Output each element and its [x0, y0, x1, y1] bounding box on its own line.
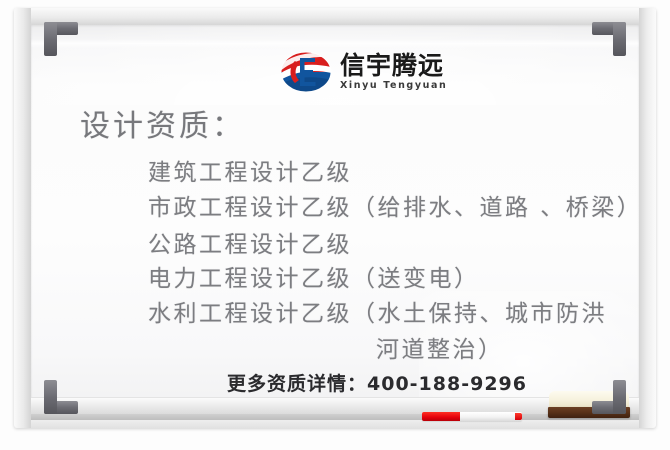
qualification-item: 建筑工程设计乙级 [148, 153, 352, 187]
frame-corner-top-right [592, 22, 626, 56]
whiteboard: 信宇腾远 Xinyu Tengyuan 设计资质： 建筑工程设计乙级 市政工程设… [14, 8, 656, 428]
qualification-item: 电力工程设计乙级（送变电） [148, 259, 480, 293]
corner-arm-vertical [613, 22, 626, 56]
qualification-item: 市政工程设计乙级（给排水、道路 、桥梁） [148, 188, 639, 222]
board-surface: 信宇腾远 Xinyu Tengyuan 设计资质： 建筑工程设计乙级 市政工程设… [31, 25, 639, 411]
frame-rail-top [14, 8, 656, 25]
qualification-item: 水利工程设计乙级（水土保持、城市防洪 [148, 294, 607, 328]
frame-corner-bottom-left [44, 380, 78, 414]
whiteboard-marker[interactable] [422, 412, 522, 421]
qualification-item-continuation: 河道整治） [376, 330, 504, 364]
contact-phone-line: 更多资质详情：400-188-9296 [227, 369, 527, 396]
marker-cap [422, 412, 460, 421]
frame-corner-top-left [44, 22, 78, 56]
whiteboard-scene: 信宇腾远 Xinyu Tengyuan 设计资质： 建筑工程设计乙级 市政工程设… [0, 0, 670, 450]
corner-arm-vertical [44, 380, 57, 414]
frame-rail-left [14, 8, 31, 428]
corner-arm-vertical [613, 380, 626, 414]
marker-tip [515, 413, 522, 420]
frame-rail-right [639, 8, 656, 428]
corner-arm-vertical [44, 22, 57, 56]
frame-corner-bottom-right [592, 380, 626, 414]
board-content: 设计资质： 建筑工程设计乙级 市政工程设计乙级（给排水、道路 、桥梁） 公路工程… [31, 25, 639, 411]
qualifications-heading: 设计资质： [80, 101, 245, 145]
qualification-item: 公路工程设计乙级 [148, 225, 352, 259]
